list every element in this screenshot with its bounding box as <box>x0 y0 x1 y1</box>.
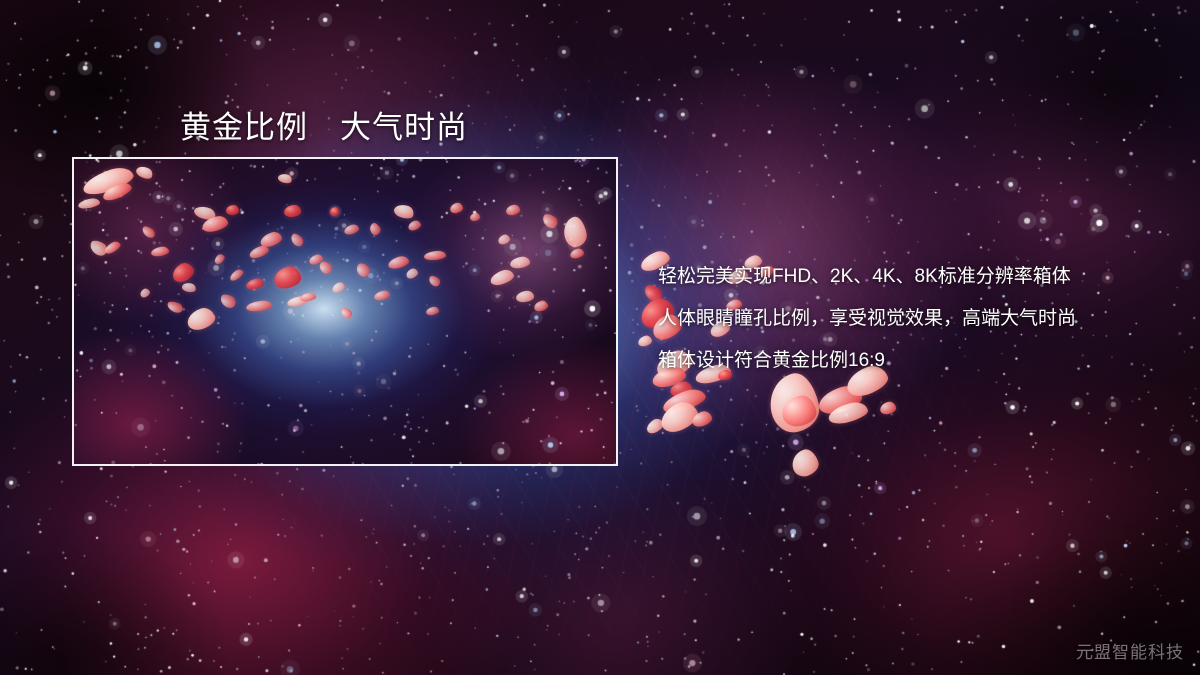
framed-photo-nebula <box>74 159 616 464</box>
page-title: 黄金比例 大气时尚 <box>180 102 468 147</box>
body-line-3: 箱体设计符合黄金比例16:9 <box>658 340 1178 382</box>
slide-canvas: 黄金比例 大气时尚 轻松完美实现FHD、2K、4K、8K标准分辨率箱体 人体眼睛… <box>0 0 1200 675</box>
watermark: 元盟智能科技 <box>1076 638 1184 663</box>
body-line-1: 轻松完美实现FHD、2K、4K、8K标准分辨率箱体 <box>658 256 1178 298</box>
body-line-2: 人体眼睛瞳孔比例，享受视觉效果，高端大气时尚 <box>658 298 1178 340</box>
body-copy: 轻松完美实现FHD、2K、4K、8K标准分辨率箱体 人体眼睛瞳孔比例，享受视觉效… <box>658 256 1178 382</box>
framed-photo <box>72 157 618 466</box>
